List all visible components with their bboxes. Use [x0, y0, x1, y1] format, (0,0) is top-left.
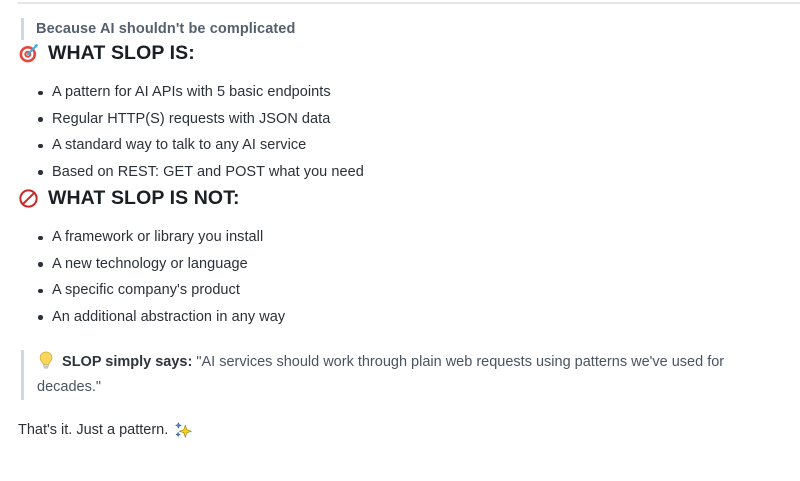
- lead-quote-text: Because AI shouldn't be complicated: [36, 18, 782, 40]
- prohibited-icon: [18, 188, 39, 209]
- list-item: A specific company's product: [18, 277, 782, 304]
- list-item: A pattern for AI APIs with 5 basic endpo…: [18, 79, 782, 106]
- heading-what-slop-is-label: WHAT SLOP IS:: [48, 40, 195, 66]
- closing-text: That's it. Just a pattern.: [18, 419, 168, 441]
- list-what-slop-is: A pattern for AI APIs with 5 basic endpo…: [18, 79, 782, 185]
- lead-blockquote: Because AI shouldn't be complicated: [21, 18, 782, 40]
- light-bulb-icon: [37, 351, 58, 372]
- tip-quote-line: SLOP simply says: "AI services should wo…: [37, 350, 762, 400]
- list-what-slop-is-not: A framework or library you install A new…: [18, 224, 782, 330]
- list-item: Based on REST: GET and POST what you nee…: [18, 159, 782, 186]
- list-item: A new technology or language: [18, 251, 782, 278]
- heading-what-slop-is-not-label: WHAT SLOP IS NOT:: [48, 185, 240, 211]
- tip-blockquote: SLOP simply says: "AI services should wo…: [21, 350, 782, 400]
- closing-paragraph: That's it. Just a pattern.: [18, 419, 782, 441]
- heading-what-slop-is: WHAT SLOP IS:: [18, 40, 782, 66]
- heading-what-slop-is-not: WHAT SLOP IS NOT:: [18, 185, 782, 211]
- document-content: Because AI shouldn't be complicated WHAT…: [0, 0, 800, 441]
- list-item: A standard way to talk to any AI service: [18, 132, 782, 159]
- list-item: A framework or library you install: [18, 224, 782, 251]
- tip-label: SLOP simply says:: [62, 354, 192, 370]
- document-page: Because AI shouldn't be complicated WHAT…: [0, 0, 800, 481]
- dart-target-icon: [18, 43, 39, 64]
- sparkles-icon: [174, 421, 193, 440]
- list-item: An additional abstraction in any way: [18, 304, 782, 331]
- list-item: Regular HTTP(S) requests with JSON data: [18, 106, 782, 133]
